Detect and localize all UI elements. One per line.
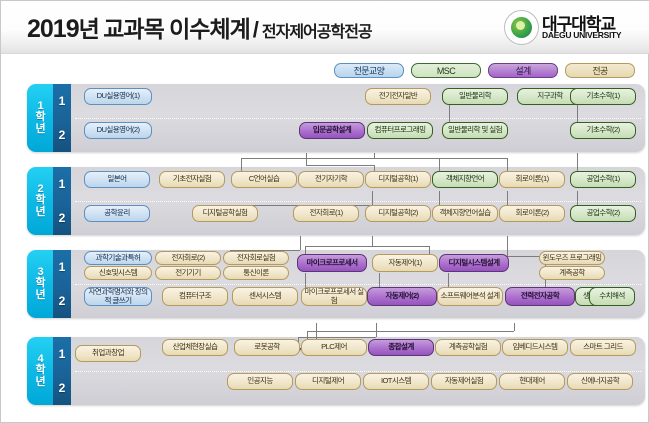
connector-line xyxy=(298,337,376,338)
course-box[interactable]: 일반물리학 xyxy=(442,88,508,105)
course-box[interactable]: 기초수학(2) xyxy=(570,122,636,139)
semester-divider xyxy=(75,201,641,202)
course-box[interactable]: 로봇공학 xyxy=(234,339,300,356)
course-box[interactable]: 자동제어(1) xyxy=(372,254,438,272)
legend-item-major[interactable]: 전공 xyxy=(565,63,635,78)
course-box[interactable]: 인공지능 xyxy=(227,373,293,390)
connector-line xyxy=(306,153,307,165)
connector-line xyxy=(305,246,372,247)
year-block-4: 4학년12취업과창업산업체현장실습로봇공학PLC제어종합설계계측공학실험임베디드… xyxy=(27,337,645,405)
course-box[interactable]: 윈도우즈 프로그래밍 xyxy=(539,251,605,265)
page-title: 2019년 교과목 이수체계/전자제어공학전공 xyxy=(27,10,372,44)
connector-line xyxy=(448,273,449,287)
course-box[interactable]: 디지털제어 xyxy=(295,373,361,390)
course-box[interactable]: 센서시스템 xyxy=(232,287,298,306)
semester-label-2: 2 xyxy=(53,371,71,405)
course-box[interactable]: 전자회로(2) xyxy=(155,251,221,265)
connector-line xyxy=(376,323,377,337)
course-box[interactable]: 회로이론(2) xyxy=(499,205,565,222)
course-box[interactable]: 자연과학명저와 창의적 글쓰기 xyxy=(84,287,152,306)
connector-line xyxy=(307,331,514,332)
course-box[interactable]: DU실용영어(2) xyxy=(84,122,152,139)
course-box[interactable]: 공업수학(2) xyxy=(570,205,636,222)
course-box[interactable]: 공업수학(1) xyxy=(570,171,636,188)
course-box[interactable]: 소프트웨어분석 설계 xyxy=(437,287,503,306)
year-block-3: 3학년12과학기술과특허신호및시스템전자회로(2)전기기기전자회로실험통신이론마… xyxy=(27,250,645,318)
page-header: 2019년 교과목 이수체계/전자제어공학전공 대구대학교 DAEGU UNIV… xyxy=(1,1,649,54)
course-box[interactable]: 마이크로프로세서 xyxy=(297,254,367,272)
course-box[interactable]: 디지털공학(2) xyxy=(365,205,431,222)
university-name-en: DAEGU UNIVERSITY xyxy=(542,30,621,40)
course-box[interactable]: 자동제어실험 xyxy=(431,373,497,390)
semester-label-2: 2 xyxy=(53,284,71,318)
connector-line xyxy=(241,158,374,159)
year-label-3: 3학년 xyxy=(29,250,51,318)
semester-divider xyxy=(75,371,641,372)
course-box[interactable]: DU실용영어(1) xyxy=(84,88,152,105)
semester-label-1: 1 xyxy=(53,84,71,118)
title-subtitle: 전자제어공학전공 xyxy=(262,24,372,41)
title-slash: / xyxy=(253,17,259,42)
connector-line xyxy=(306,165,374,166)
course-box[interactable]: PLC제어 xyxy=(301,339,367,356)
year-label-2: 2학년 xyxy=(29,167,51,235)
semester-divider xyxy=(75,118,641,119)
course-box[interactable]: 신호및시스템 xyxy=(84,266,152,280)
course-box[interactable]: 취업과창업 xyxy=(75,345,141,362)
course-box[interactable]: 자동제어(2) xyxy=(367,287,437,306)
course-box[interactable]: 디지털공학(1) xyxy=(365,171,431,188)
connector-line xyxy=(514,323,515,331)
legend-item-msc[interactable]: MSC xyxy=(411,63,481,78)
semester-label-2: 2 xyxy=(53,201,71,235)
course-box[interactable]: 마이크로프로세서 실험 xyxy=(301,287,367,306)
course-box[interactable]: 수치해석 xyxy=(589,287,635,306)
course-box[interactable]: 계측공학 xyxy=(539,266,605,280)
course-box[interactable]: 기초전자실험 xyxy=(159,171,225,188)
course-box[interactable]: 전기기기 xyxy=(155,266,221,280)
connector-line xyxy=(374,158,439,159)
year-block-2: 2학년12일본어기초전자실험C언어실습전기자기학디지털공학(1)객체지향언어회로… xyxy=(27,167,645,235)
course-box[interactable]: 디지털시스템설계 xyxy=(439,254,509,272)
semester-divider xyxy=(75,284,641,285)
semester-label-1: 1 xyxy=(53,337,71,371)
university-logo: 대구대학교 DAEGU UNIVERSITY xyxy=(504,9,646,45)
course-box[interactable]: 일본어 xyxy=(84,171,150,188)
course-box[interactable]: 전자회로(1) xyxy=(293,205,359,222)
course-box[interactable]: 일반물리학 및 실험 xyxy=(442,122,508,139)
legend: 전문교양 MSC 설계 전공 xyxy=(334,63,635,78)
connector-line xyxy=(372,191,373,205)
course-box[interactable]: 전기전자일반 xyxy=(365,88,431,105)
connector-line xyxy=(372,236,373,246)
semester-label-1: 1 xyxy=(53,167,71,201)
course-box[interactable]: 계측공학실험 xyxy=(435,339,501,356)
course-box[interactable]: 과학기술과특허 xyxy=(84,251,152,265)
semester-label-1: 1 xyxy=(53,250,71,284)
course-box[interactable]: 임베디드시스템 xyxy=(502,339,568,356)
connector-line xyxy=(507,236,508,256)
course-box[interactable]: 산업체현장실습 xyxy=(162,339,228,356)
course-box[interactable]: 컴퓨터프로그래밍 xyxy=(367,122,433,139)
course-box[interactable]: 신에너지공학 xyxy=(567,373,633,390)
year-label-1: 1학년 xyxy=(29,84,51,152)
course-box[interactable]: 현대제어 xyxy=(499,373,565,390)
course-box[interactable]: 디지털공학실험 xyxy=(192,205,258,222)
course-box[interactable]: 입문공학설계 xyxy=(299,122,365,139)
semester-label-2: 2 xyxy=(53,118,71,152)
course-box[interactable]: 공학윤리 xyxy=(84,205,150,222)
course-box[interactable]: 객체지향언어 xyxy=(432,171,498,188)
course-box[interactable]: C언어실습 xyxy=(231,171,297,188)
title-year-suffix: 년 xyxy=(79,16,99,42)
course-box[interactable]: IOT시스템 xyxy=(363,373,429,390)
course-box[interactable]: 전력전자공학 xyxy=(505,287,575,306)
legend-item-liberal-arts[interactable]: 전문교양 xyxy=(334,63,404,78)
course-box[interactable]: 통신이론 xyxy=(223,266,289,280)
course-box[interactable]: 전자회로실험 xyxy=(223,251,289,265)
course-box[interactable]: 회로이론(1) xyxy=(499,171,565,188)
university-seal-icon xyxy=(504,10,539,45)
legend-item-design[interactable]: 설계 xyxy=(488,63,558,78)
title-main: 교과목 이수체계 xyxy=(103,16,250,42)
year-label-4: 4학년 xyxy=(29,337,51,405)
year-block-1: 1학년12DU실용영어(1)전기전자일반일반물리학지구과학기초수학(1)DU실용… xyxy=(27,84,645,152)
curriculum-page: 2019년 교과목 이수체계/전자제어공학전공 대구대학교 DAEGU UNIV… xyxy=(0,0,649,423)
connector-line xyxy=(439,158,507,159)
course-box[interactable]: 종합설계 xyxy=(368,339,434,356)
connector-line xyxy=(372,246,429,247)
course-box[interactable]: 스마트 그리드 xyxy=(570,339,636,356)
title-year: 2019 xyxy=(27,15,79,43)
connector-line xyxy=(300,236,301,250)
course-box[interactable]: 전기자기학 xyxy=(298,171,364,188)
course-box[interactable]: 객체지향언어실습 xyxy=(432,205,498,222)
course-box[interactable]: 기초수학(1) xyxy=(570,88,636,105)
course-box[interactable]: 컴퓨터구조 xyxy=(162,287,228,306)
